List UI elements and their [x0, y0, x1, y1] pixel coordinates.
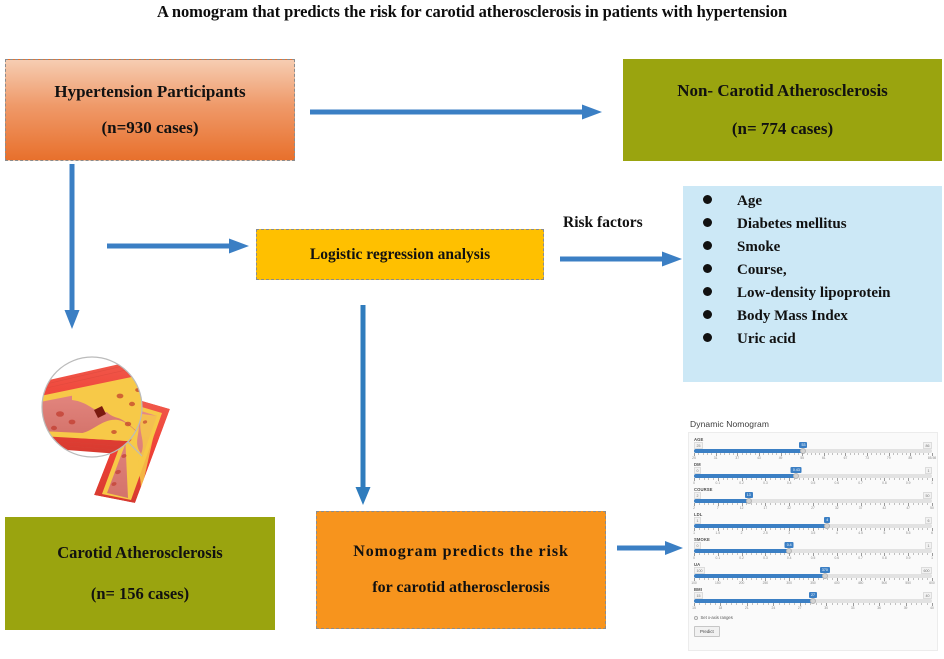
tick-mark-minor: [808, 478, 809, 480]
slider-max-bmi[interactable]: 40: [923, 592, 932, 599]
tick-mark-minor: [751, 553, 752, 555]
box-carotid-atherosclerosis: Carotid Atherosclerosis (n= 156 cases): [5, 517, 275, 630]
tick-mark-minor: [903, 503, 904, 505]
tick-mark-minor: [737, 478, 738, 480]
tick-label: 40: [930, 606, 934, 610]
arrow-branch-to-logistic-icon: [107, 235, 249, 257]
tick-mark-minor: [770, 478, 771, 480]
slider-ticks-age: 253137434955616773798585.98: [694, 453, 932, 461]
tick-label: 12: [740, 506, 744, 510]
tick-label: 200: [739, 581, 745, 585]
tick-mark-minor: [746, 553, 747, 555]
tick-mark-minor: [704, 478, 705, 480]
tick-mark-minor: [732, 478, 733, 480]
nomogram-app-title: Dynamic Nomogram: [684, 418, 942, 432]
tick-mark-minor: [851, 478, 852, 480]
tick-label: 0.4: [787, 481, 792, 485]
risk-factor-item: Uric acid: [703, 332, 942, 347]
slider-current-value-ua: 370: [820, 567, 830, 573]
tick-mark-minor: [761, 503, 762, 505]
tick-mark-minor: [856, 578, 857, 580]
tick-mark-minor: [922, 503, 923, 505]
box-logistic-label: Logistic regression analysis: [310, 246, 490, 264]
risk-factor-label: Low-density lipoprotein: [737, 286, 891, 301]
tick-mark-minor: [889, 478, 890, 480]
tick-label: 0.7: [858, 556, 863, 560]
tick-mark-minor: [899, 578, 900, 580]
tick-mark-minor: [751, 478, 752, 480]
tick-mark-minor: [903, 578, 904, 580]
tick-mark-minor: [850, 453, 851, 455]
tick-mark-minor: [775, 478, 776, 480]
slider-max-course[interactable]: 50: [923, 492, 932, 499]
tick-mark-minor: [832, 453, 833, 455]
slider-current-value-smoke: 0.4: [785, 542, 794, 548]
tick-label: 15: [692, 606, 696, 610]
slider-current-value-ldl: 4: [824, 517, 830, 523]
tick-mark-minor: [708, 503, 709, 505]
tick-mark-minor: [770, 553, 771, 555]
tick-label: 0.2: [739, 556, 744, 560]
box-noncarotid-line1: Non- Carotid Atherosclerosis: [677, 81, 888, 101]
tick-mark-minor: [794, 528, 795, 530]
tick-mark-minor: [808, 528, 809, 530]
tick-mark-minor: [818, 478, 819, 480]
tick-label: 0.6: [835, 481, 840, 485]
arrow-hypertension-down-icon: [60, 164, 84, 329]
risk-factor-item: Low-density lipoprotein: [703, 286, 942, 301]
tick-mark-minor: [918, 503, 919, 505]
risk-factors-list: Age Diabetes mellitus Smoke Course, Low-…: [683, 186, 942, 382]
tick-mark-minor: [819, 453, 820, 455]
tick-mark-minor: [727, 553, 728, 555]
tick-mark-minor: [841, 453, 842, 455]
tick-mark-minor: [897, 453, 898, 455]
tick-label: 47: [906, 506, 910, 510]
tick-mark-minor: [919, 453, 920, 455]
risk-factor-item: Smoke: [703, 240, 942, 255]
tick-mark-minor: [884, 453, 885, 455]
tick-label: 0.7: [858, 481, 863, 485]
tick-mark-minor: [794, 503, 795, 505]
predict-button[interactable]: Predict: [694, 626, 720, 637]
tick-label: 49: [779, 456, 783, 460]
tick-mark-minor: [865, 528, 866, 530]
tick-mark-minor: [761, 553, 762, 555]
slider-values-dm: 00.431: [694, 467, 932, 474]
box-hypertension-participants: Hypertension Participants (n=930 cases): [5, 59, 295, 161]
tick-mark-minor: [832, 478, 833, 480]
tick-mark-minor: [865, 503, 866, 505]
tick-mark-minor: [708, 553, 709, 555]
tick-mark-minor: [756, 528, 757, 530]
tick-mark-minor: [874, 603, 875, 605]
tick-mark-minor: [789, 603, 790, 605]
tick-mark-minor: [699, 553, 700, 555]
tick-mark-minor: [916, 603, 917, 605]
tick-label: 79: [887, 456, 891, 460]
tick-mark-minor: [726, 603, 727, 605]
tick-mark-minor: [870, 503, 871, 505]
box-carotid-line1: Carotid Atherosclerosis: [57, 544, 222, 563]
slider-row-course: COURSE2135027121722273237424750: [694, 487, 932, 511]
tick-mark-minor: [880, 528, 881, 530]
tick-mark-minor: [707, 453, 708, 455]
tick-label: 61: [822, 456, 826, 460]
tick-mark-minor: [810, 603, 811, 605]
tick-mark-minor: [772, 453, 773, 455]
tick-label: 24: [771, 606, 775, 610]
tick-label: 1: [931, 481, 933, 485]
tick-mark-minor: [856, 478, 857, 480]
tick-mark-minor: [811, 453, 812, 455]
tick-mark-minor: [913, 528, 914, 530]
risk-factor-label: Age: [737, 194, 762, 209]
tick-mark-minor: [818, 553, 819, 555]
tick-mark-minor: [918, 578, 919, 580]
box-nomogram-line1: Nomogram predicts the risk: [353, 543, 569, 561]
tick-label: 550: [905, 581, 911, 585]
tick-label: 1.5: [716, 531, 721, 535]
tick-mark-minor: [890, 603, 891, 605]
tick-mark-minor: [842, 478, 843, 480]
slider-current-value-course: 13: [745, 492, 753, 498]
tick-label: 22: [787, 506, 791, 510]
tick-mark-minor: [710, 603, 711, 605]
tick-label: 7: [717, 506, 719, 510]
slider-min-dm[interactable]: 0: [694, 467, 701, 474]
tick-mark-minor: [732, 528, 733, 530]
tick-label: 0.6: [835, 556, 840, 560]
tick-mark-minor: [832, 503, 833, 505]
tick-label: 5: [883, 531, 885, 535]
tick-mark-minor: [756, 503, 757, 505]
tick-mark-minor: [875, 503, 876, 505]
tick-mark-minor: [746, 478, 747, 480]
tick-label: 6: [931, 531, 933, 535]
tick-mark-minor: [794, 478, 795, 480]
tick-mark-minor: [799, 528, 800, 530]
tick-mark-minor: [784, 478, 785, 480]
tick-mark-minor: [763, 603, 764, 605]
tick-mark-minor: [784, 528, 785, 530]
bullet-icon: [703, 241, 712, 250]
tick-mark-minor: [903, 553, 904, 555]
tick-mark-minor: [713, 528, 714, 530]
tick-mark-minor: [751, 503, 752, 505]
checkbox-icon[interactable]: [694, 616, 698, 620]
tick-mark-minor: [723, 553, 724, 555]
tick-label: 3.5: [811, 531, 816, 535]
slider-current-value-dm: 0.43: [791, 467, 802, 473]
tick-label: 1: [693, 531, 695, 535]
tick-mark-minor: [779, 603, 780, 605]
tick-mark-minor: [837, 453, 838, 455]
risk-factor-item: Body Mass Index: [703, 309, 942, 324]
tick-mark-minor: [900, 603, 901, 605]
tick-mark-minor: [784, 578, 785, 580]
tick-label: 0: [693, 556, 695, 560]
tick-mark-minor: [750, 453, 751, 455]
tick-label: 50: [930, 506, 934, 510]
slider-min-course[interactable]: 2: [694, 492, 701, 499]
tick-mark-minor: [799, 503, 800, 505]
tick-mark-minor: [827, 578, 828, 580]
tick-mark-minor: [832, 578, 833, 580]
tick-mark-minor: [846, 503, 847, 505]
bullet-icon: [703, 310, 712, 319]
tick-mark-minor: [902, 453, 903, 455]
tick-mark-minor: [851, 528, 852, 530]
tick-mark-minor: [729, 453, 730, 455]
tick-mark-minor: [842, 553, 843, 555]
tick-mark-minor: [713, 553, 714, 555]
slider-min-ldl[interactable]: 1: [694, 517, 701, 524]
tick-mark-minor: [922, 528, 923, 530]
slider-values-ua: 100370600: [694, 567, 932, 574]
tick-mark-minor: [780, 578, 781, 580]
tick-mark-minor: [818, 578, 819, 580]
tick-mark-minor: [870, 553, 871, 555]
tick-mark-minor: [818, 528, 819, 530]
tick-label: 85.98: [928, 456, 936, 460]
tick-label: 150: [715, 581, 721, 585]
tick-mark-minor: [894, 578, 895, 580]
tick-mark-minor: [856, 503, 857, 505]
tick-label: 55: [800, 456, 804, 460]
slider-max-smoke[interactable]: 1: [925, 542, 932, 549]
tick-mark-minor: [832, 553, 833, 555]
tick-mark-minor: [913, 478, 914, 480]
tick-mark-minor: [827, 553, 828, 555]
tick-mark-minor: [923, 453, 924, 455]
tick-mark-minor: [711, 453, 712, 455]
tick-mark-minor: [752, 603, 753, 605]
tick-label: 33: [851, 606, 855, 610]
risk-factor-item: Diabetes mellitus: [703, 217, 942, 232]
flowchart-figure: A nomogram that predicts the risk for ca…: [0, 0, 944, 659]
tick-mark-minor: [770, 503, 771, 505]
tick-mark-minor: [870, 578, 871, 580]
tick-mark-minor: [775, 578, 776, 580]
tick-mark-minor: [699, 603, 700, 605]
box-carotid-line2: (n= 156 cases): [91, 585, 189, 604]
tick-mark-minor: [922, 578, 923, 580]
tick-mark-minor: [703, 453, 704, 455]
tick-label: 450: [858, 581, 864, 585]
slider-min-bmi[interactable]: 15: [694, 592, 703, 599]
tick-mark-minor: [911, 603, 912, 605]
tick-mark-minor: [927, 553, 928, 555]
tick-mark-minor: [827, 478, 828, 480]
arrow-logistic-to-nomogram-icon: [352, 305, 374, 505]
tick-mark-minor: [928, 453, 929, 455]
tick-label: 39: [904, 606, 908, 610]
tick-mark-minor: [780, 503, 781, 505]
tick-mark-minor: [827, 528, 828, 530]
tick-label: 32: [835, 506, 839, 510]
tick-mark-minor: [927, 528, 928, 530]
bullet-icon: [703, 218, 712, 227]
tick-mark-minor: [927, 478, 928, 480]
tick-label: 4.5: [858, 531, 863, 535]
tick-mark-minor: [865, 578, 866, 580]
tick-mark-minor: [821, 603, 822, 605]
tick-mark-minor: [768, 603, 769, 605]
tick-mark-minor: [733, 453, 734, 455]
tick-mark-minor: [832, 603, 833, 605]
slider-max-ua[interactable]: 600: [921, 567, 932, 574]
tick-mark-minor: [704, 553, 705, 555]
tick-mark-minor: [846, 478, 847, 480]
tick-mark-minor: [708, 528, 709, 530]
slider-max-age[interactable]: 86: [923, 442, 932, 449]
slider-min-ua[interactable]: 100: [694, 567, 705, 574]
bullet-icon: [703, 195, 712, 204]
tick-mark-minor: [880, 553, 881, 555]
slider-row-smoke: SMOKE00.4100.10.20.30.40.50.60.70.80.91: [694, 537, 932, 561]
tick-label: 2.5: [763, 531, 768, 535]
tick-mark-minor: [756, 553, 757, 555]
tick-mark-minor: [808, 503, 809, 505]
tick-mark-minor: [863, 603, 864, 605]
tick-label: 3: [788, 531, 790, 535]
tick-mark-minor: [846, 553, 847, 555]
tick-mark-minor: [737, 503, 738, 505]
tick-mark-minor: [768, 453, 769, 455]
tick-mark-minor: [713, 478, 714, 480]
tick-mark-minor: [775, 503, 776, 505]
box-logistic-regression-analysis: Logistic regression analysis: [256, 229, 544, 280]
tick-mark-minor: [869, 603, 870, 605]
tick-mark-minor: [899, 478, 900, 480]
tick-mark-minor: [858, 603, 859, 605]
tick-mark-minor: [799, 553, 800, 555]
tick-mark-minor: [794, 553, 795, 555]
tick-label: 250: [763, 581, 769, 585]
tick-mark-minor: [742, 453, 743, 455]
tick-mark-minor: [723, 478, 724, 480]
tick-mark-minor: [889, 503, 890, 505]
tick-mark-minor: [889, 553, 890, 555]
tick-label: 2: [693, 506, 695, 510]
tick-mark-minor: [757, 603, 758, 605]
tick-mark-minor: [863, 453, 864, 455]
tick-mark-minor: [921, 603, 922, 605]
tick-mark-minor: [918, 478, 919, 480]
tick-mark-minor: [761, 478, 762, 480]
tick-mark-minor: [837, 603, 838, 605]
tick-label: 350: [810, 581, 816, 585]
tick-mark-minor: [723, 503, 724, 505]
tick-mark-minor: [842, 603, 843, 605]
slider-max-dm[interactable]: 1: [925, 467, 932, 474]
tick-mark-minor: [784, 553, 785, 555]
tick-mark-minor: [842, 528, 843, 530]
tick-mark-minor: [780, 478, 781, 480]
tick-mark-minor: [746, 503, 747, 505]
tick-mark-minor: [851, 578, 852, 580]
tick-mark-minor: [763, 453, 764, 455]
slider-ticks-ldl: 11.522.533.544.555.56: [694, 528, 932, 536]
tick-mark-minor: [803, 578, 804, 580]
tick-mark-minor: [918, 553, 919, 555]
tick-mark-minor: [713, 503, 714, 505]
arrow-logistic-to-risk-factors-icon: [560, 248, 682, 270]
tick-mark-minor: [870, 478, 871, 480]
tick-mark-minor: [803, 478, 804, 480]
tick-mark-minor: [818, 503, 819, 505]
tick-mark-minor: [803, 503, 804, 505]
tick-mark-minor: [918, 528, 919, 530]
tick-label: 17: [764, 506, 768, 510]
tick-mark-minor: [727, 478, 728, 480]
atherosclerotic-artery-illustration: [32, 352, 222, 504]
tick-mark-minor: [875, 478, 876, 480]
tick-mark-minor: [854, 453, 855, 455]
tick-mark-minor: [823, 503, 824, 505]
slider-min-age[interactable]: 25: [694, 442, 703, 449]
tick-mark-minor: [780, 553, 781, 555]
tick-mark-minor: [761, 528, 762, 530]
tick-mark-minor: [922, 478, 923, 480]
tick-label: 0.8: [882, 556, 887, 560]
slider-min-smoke[interactable]: 0: [694, 542, 701, 549]
tick-mark-minor: [732, 553, 733, 555]
tick-label: 0: [693, 481, 695, 485]
tick-mark-minor: [906, 453, 907, 455]
tick-mark-minor: [846, 528, 847, 530]
tick-mark-minor: [828, 453, 829, 455]
tick-mark-minor: [880, 453, 881, 455]
tick-mark-minor: [913, 578, 914, 580]
tick-mark-minor: [894, 553, 895, 555]
tick-label: 37: [735, 456, 739, 460]
tick-mark-minor: [876, 453, 877, 455]
tick-mark-minor: [899, 528, 900, 530]
tick-label: 85: [909, 456, 913, 460]
tick-mark-minor: [893, 453, 894, 455]
tick-mark-minor: [846, 578, 847, 580]
tick-mark-minor: [755, 453, 756, 455]
slider-current-value-age: 53: [799, 442, 807, 448]
box-nomogram-predicts-risk: Nomogram predicts the risk for carotid a…: [316, 511, 606, 629]
tick-mark-minor: [903, 528, 904, 530]
tick-mark-minor: [780, 528, 781, 530]
tick-mark-minor: [708, 578, 709, 580]
tick-mark-minor: [827, 503, 828, 505]
slider-values-smoke: 00.41: [694, 542, 932, 549]
slider-max-ldl[interactable]: 6: [925, 517, 932, 524]
tick-mark-minor: [871, 453, 872, 455]
tick-mark-minor: [742, 603, 743, 605]
tick-mark-minor: [732, 578, 733, 580]
tick-mark-minor: [856, 553, 857, 555]
tick-label: 5.5: [906, 531, 911, 535]
tick-mark-minor: [746, 578, 747, 580]
tick-mark-minor: [776, 453, 777, 455]
slider-ticks-course: 27121722273237424750: [694, 503, 932, 511]
risk-factor-label: Smoke: [737, 240, 780, 255]
figure-title: A nomogram that predicts the risk for ca…: [0, 2, 944, 22]
bullet-icon: [703, 333, 712, 342]
tick-mark-minor: [770, 528, 771, 530]
nomogram-slider-panel: AGE255386253137434955616773798585.98DM00…: [688, 432, 938, 651]
tick-mark-minor: [899, 553, 900, 555]
tick-mark-minor: [847, 603, 848, 605]
tick-mark-minor: [799, 478, 800, 480]
tick-label: 0.2: [739, 481, 744, 485]
